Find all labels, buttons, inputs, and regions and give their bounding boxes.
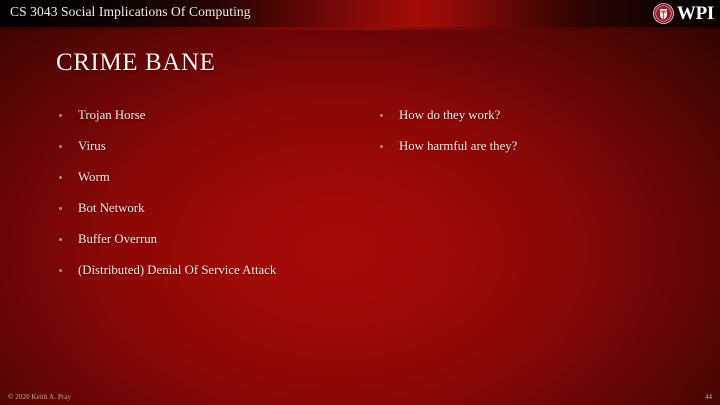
bullet-column-threat-types: Trojan Horse Virus Worm Bot Network Buff… <box>57 108 357 294</box>
header-bar-underline <box>0 27 720 30</box>
wpi-seal-icon <box>653 3 674 24</box>
bullet-item: (Distributed) Denial Of Service Attack <box>57 263 357 279</box>
bullet-item: Virus <box>57 139 357 155</box>
bullet-dot-icon <box>59 114 62 117</box>
slide-title: CRIME BANE <box>56 49 215 77</box>
copyright-notice: © 2020 Keith A. Pray <box>8 393 71 401</box>
bullet-item: Bot Network <box>57 201 357 217</box>
bullet-dot-icon <box>380 145 383 148</box>
bullet-item: How do they work? <box>378 108 678 124</box>
bullet-column-questions: How do they work? How harmful are they? <box>378 108 678 170</box>
bullet-dot-icon <box>59 269 62 272</box>
page-number: 44 <box>705 393 712 401</box>
bullet-item: Buffer Overrun <box>57 232 357 248</box>
bullet-dot-icon <box>59 207 62 210</box>
bullet-text: Trojan Horse <box>78 108 145 122</box>
bullet-dot-icon <box>59 238 62 241</box>
bullet-text: How do they work? <box>399 108 500 122</box>
bullet-dot-icon <box>59 145 62 148</box>
wpi-logo: WPI <box>653 2 714 25</box>
bullet-text: How harmful are they? <box>399 139 517 153</box>
bullet-item: How harmful are they? <box>378 139 678 155</box>
bullet-text: Buffer Overrun <box>78 232 157 246</box>
bullet-dot-icon <box>59 176 62 179</box>
bullet-item: Trojan Horse <box>57 108 357 124</box>
bullet-text: Virus <box>78 139 106 153</box>
bullet-item: Worm <box>57 170 357 186</box>
bullet-text: (Distributed) Denial Of Service Attack <box>78 263 276 277</box>
bullet-text: Worm <box>78 170 110 184</box>
course-title: CS 3043 Social Implications Of Computing <box>10 4 251 20</box>
bullet-dot-icon <box>380 114 383 117</box>
bullet-text: Bot Network <box>78 201 144 215</box>
wpi-wordmark: WPI <box>677 4 714 23</box>
presentation-slide: CS 3043 Social Implications Of Computing… <box>0 0 720 405</box>
